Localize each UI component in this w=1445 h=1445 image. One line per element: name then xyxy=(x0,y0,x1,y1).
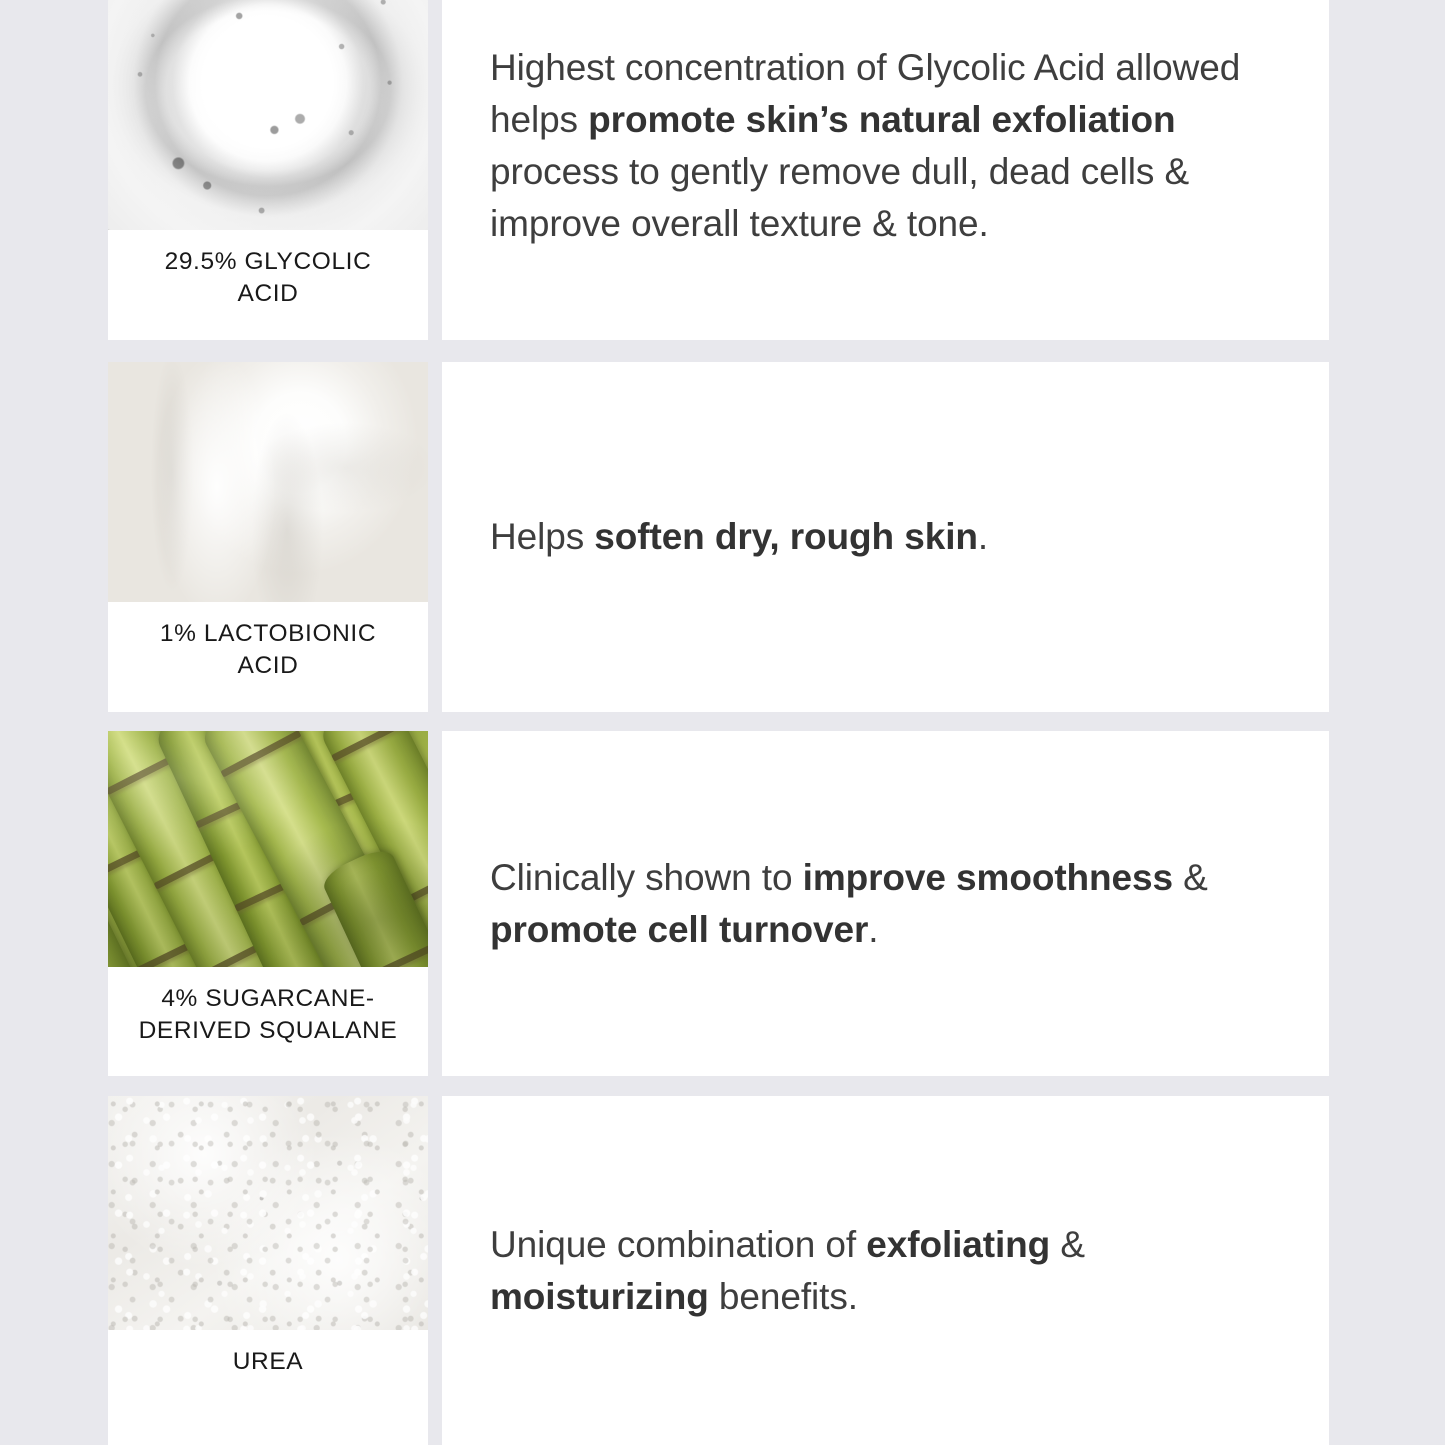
urea-powder-texture-image xyxy=(108,1096,428,1330)
ingredient-row: 29.5% GLYCOLIC ACID Highest concentratio… xyxy=(0,0,1445,340)
ingredient-card-glycolic-acid[interactable]: 29.5% GLYCOLIC ACID xyxy=(108,0,428,340)
ingredient-caption-urea: UREA xyxy=(108,1330,428,1378)
sugarcane-stalks-image xyxy=(108,731,428,967)
benefit-card-sugarcane-squalane[interactable]: Clinically shown to improve smoothness &… xyxy=(442,731,1329,1076)
ingredient-row: 4% SUGARCANE- DERIVED SQUALANE Clinicall… xyxy=(0,731,1445,1076)
ingredient-card-urea[interactable]: UREA xyxy=(108,1096,428,1445)
ingredient-card-lactobionic-acid[interactable]: 1% LACTOBIONIC ACID xyxy=(108,362,428,712)
ingredient-caption-lactobionic-acid: 1% LACTOBIONIC ACID xyxy=(108,602,428,682)
ingredient-caption-sugarcane-squalane: 4% SUGARCANE- DERIVED SQUALANE xyxy=(108,967,428,1047)
sugarcane-node xyxy=(365,943,428,967)
ingredient-card-sugarcane-squalane[interactable]: 4% SUGARCANE- DERIVED SQUALANE xyxy=(108,731,428,1076)
sugarcane-node xyxy=(220,731,301,777)
ingredient-row: 1% LACTOBIONIC ACID Helps soften dry, ro… xyxy=(0,362,1445,712)
benefit-text-glycolic-acid: Highest concentration of Glycolic Acid a… xyxy=(442,42,1329,249)
ingredient-row: UREA Unique combination of exfoliating &… xyxy=(0,1096,1445,1445)
benefit-text-sugarcane-squalane: Clinically shown to improve smoothness &… xyxy=(442,852,1329,956)
ingredient-caption-glycolic-acid: 29.5% GLYCOLIC ACID xyxy=(108,230,428,310)
sugarcane-node xyxy=(331,731,405,762)
glycolic-acid-gel-texture-image xyxy=(108,0,428,230)
benefit-text-lactobionic-acid: Helps soften dry, rough skin. xyxy=(442,511,1036,563)
benefit-card-lactobionic-acid[interactable]: Helps soften dry, rough skin. xyxy=(442,362,1329,712)
benefit-card-urea[interactable]: Unique combination of exfoliating & mois… xyxy=(442,1096,1329,1445)
benefit-card-glycolic-acid[interactable]: Highest concentration of Glycolic Acid a… xyxy=(442,0,1329,340)
lactobionic-acid-cream-texture-image xyxy=(108,362,428,602)
benefit-text-urea: Unique combination of exfoliating & mois… xyxy=(442,1219,1329,1323)
ingredient-benefits-grid: 29.5% GLYCOLIC ACID Highest concentratio… xyxy=(0,0,1445,1445)
